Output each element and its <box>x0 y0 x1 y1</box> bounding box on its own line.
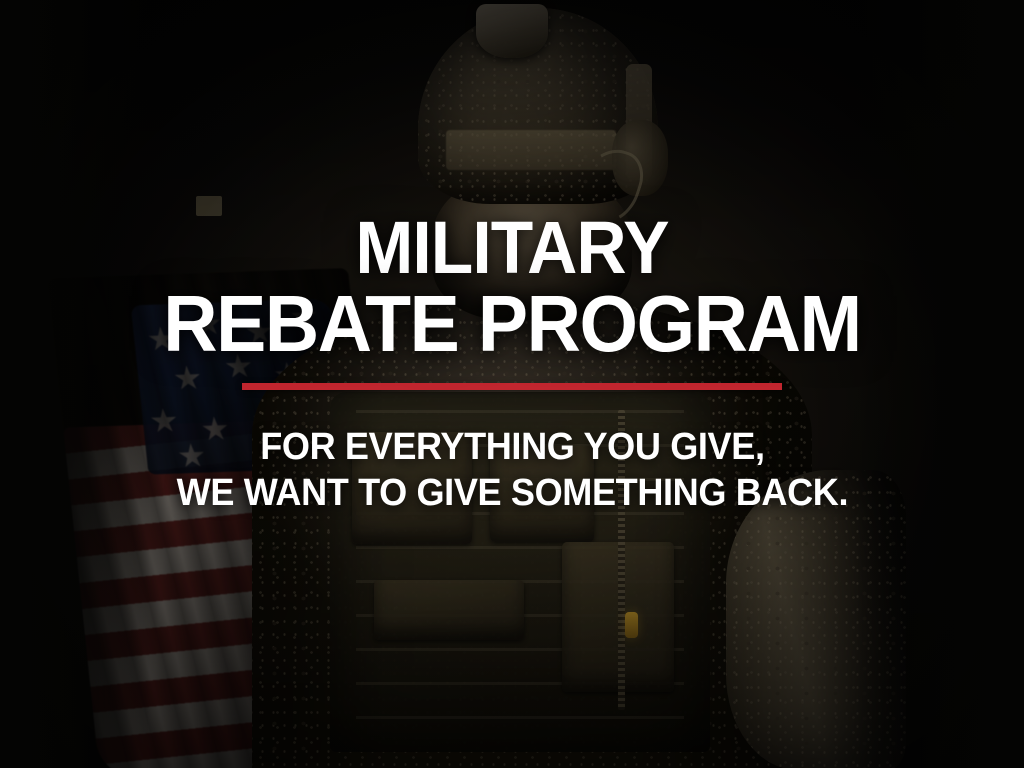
banner-text-overlay: MILITARY REBATE PROGRAM FOR EVERYTHING Y… <box>0 0 1024 768</box>
headline-line-1: MILITARY <box>163 212 860 285</box>
banner-headline: MILITARY REBATE PROGRAM <box>163 212 860 363</box>
banner-subheadline: FOR EVERYTHING YOU GIVE, WE WANT TO GIVE… <box>176 424 847 517</box>
red-divider-rule <box>242 383 782 390</box>
subheadline-line-2: WE WANT TO GIVE SOMETHING BACK. <box>176 470 847 516</box>
subheadline-line-1: FOR EVERYTHING YOU GIVE, <box>176 424 847 470</box>
military-rebate-program-banner: MILITARY REBATE PROGRAM FOR EVERYTHING Y… <box>0 0 1024 768</box>
headline-line-2: REBATE PROGRAM <box>163 285 860 363</box>
